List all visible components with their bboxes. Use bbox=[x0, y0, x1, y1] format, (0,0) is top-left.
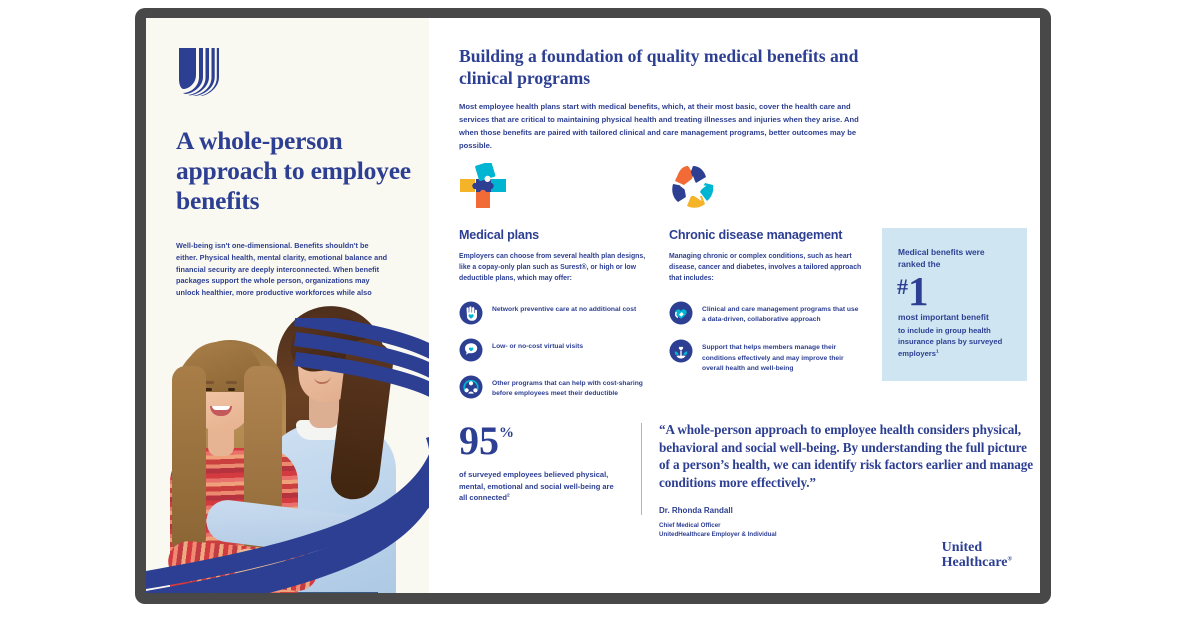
section-medical-plans: Medical plans Employers can choose from … bbox=[459, 163, 649, 413]
mother-and-daughter-photo bbox=[146, 296, 429, 593]
uhc-shield-icon bbox=[177, 46, 219, 96]
callout-bottom-copy: to include in group health insurance pla… bbox=[898, 326, 1002, 359]
stat-caption: of surveyed employees believed physical,… bbox=[459, 469, 624, 504]
quote-author-name: Dr. Rhonda Randall bbox=[659, 506, 1034, 515]
stat-95-percent: 95 % of surveyed employees believed phys… bbox=[459, 421, 624, 504]
quote-text: “A whole-person approach to employee hea… bbox=[659, 421, 1034, 492]
device-frame: A whole-person approach to employee bene… bbox=[135, 8, 1051, 604]
vertical-divider bbox=[641, 423, 642, 515]
list-item-text: Network preventive care at no additional… bbox=[492, 301, 636, 316]
registered-mark: ® bbox=[1008, 557, 1012, 563]
quote-author-org: UnitedHealthcare Employer & Individual bbox=[659, 530, 1034, 540]
photo-figure-part bbox=[212, 406, 230, 410]
list-item: Clinical and care management programs th… bbox=[669, 301, 864, 326]
main-heading: Building a foundation of quality medical… bbox=[459, 46, 889, 90]
quote-author-title: Chief Medical Officer bbox=[659, 521, 1034, 531]
hand-heart-icon bbox=[459, 301, 483, 325]
stat-percent-symbol: % bbox=[499, 421, 514, 441]
callout-hash-symbol: # bbox=[897, 273, 908, 298]
photo-figure-part bbox=[172, 366, 206, 556]
logo-line-2-text: Healthcare bbox=[942, 555, 1008, 570]
list-item-text: Support that helps members manage their … bbox=[702, 339, 864, 375]
list-item-text: Other programs that can help with cost-s… bbox=[492, 375, 649, 400]
photo-figure-part bbox=[205, 388, 212, 391]
callout-rank-value: 1 bbox=[908, 273, 929, 311]
callout-mid-text: most important benefit bbox=[898, 312, 1013, 322]
column-description: Employers can choose from several health… bbox=[459, 251, 649, 285]
logo-line-2: Healthcare® bbox=[942, 555, 1012, 571]
photo-figure-part bbox=[308, 358, 315, 361]
hands-heart-support-icon bbox=[669, 339, 693, 363]
pinwheel-star-icon bbox=[669, 163, 717, 211]
footnote-marker: 1 bbox=[936, 350, 939, 355]
chat-heart-icon bbox=[459, 338, 483, 362]
heart-hand-care-icon bbox=[669, 301, 693, 325]
list-item-text: Low- or no-cost virtual visits bbox=[492, 338, 583, 353]
photo-figure-part bbox=[228, 388, 235, 391]
people-network-icon bbox=[459, 375, 483, 399]
quote-author-role: Chief Medical Officer UnitedHealthcare E… bbox=[659, 521, 1034, 540]
intro-paragraph: Most employee health plans start with me… bbox=[459, 100, 879, 152]
list-item: Low- or no-cost virtual visits bbox=[459, 338, 649, 362]
page-title: A whole-person approach to employee bene… bbox=[176, 126, 414, 216]
logo-line-1: United bbox=[942, 540, 1012, 556]
list-item-text: Clinical and care management programs th… bbox=[702, 301, 864, 326]
callout-bottom-text: to include in group health insurance pla… bbox=[898, 325, 1013, 361]
column-title: Chronic disease management bbox=[669, 228, 864, 242]
list-item: Network preventive care at no additional… bbox=[459, 301, 649, 325]
unitedhealthcare-logo: United Healthcare® bbox=[942, 540, 1012, 571]
callout-number: # 1 bbox=[897, 273, 1013, 311]
right-content-panel: Building a foundation of quality medical… bbox=[429, 18, 1040, 593]
pull-quote: “A whole-person approach to employee hea… bbox=[659, 421, 1034, 540]
photo-figure-part bbox=[330, 356, 337, 359]
brochure-page: A whole-person approach to employee bene… bbox=[146, 18, 1040, 593]
section-chronic-disease-management: Chronic disease management Managing chro… bbox=[669, 163, 864, 388]
ranked-number-one-callout: Medical benefits were ranked the # 1 mos… bbox=[882, 228, 1027, 381]
screenshot-viewport: A whole-person approach to employee bene… bbox=[0, 0, 1200, 627]
list-item: Other programs that can help with cost-s… bbox=[459, 375, 649, 400]
bullet-list: Network preventive care at no additional… bbox=[459, 301, 649, 400]
photo-figure-part bbox=[226, 381, 237, 384]
column-title: Medical plans bbox=[459, 228, 649, 242]
left-panel: A whole-person approach to employee bene… bbox=[146, 18, 429, 593]
list-item: Support that helps members manage their … bbox=[669, 339, 864, 375]
stat-value: 95 bbox=[459, 421, 499, 461]
stat-caption-copy: of surveyed employees believed physical,… bbox=[459, 470, 614, 502]
bullet-list: Clinical and care management programs th… bbox=[669, 301, 864, 376]
column-description: Managing chronic or complex conditions, … bbox=[669, 251, 864, 285]
stat-number: 95 % bbox=[459, 421, 624, 461]
footnote-marker: 2 bbox=[507, 494, 510, 499]
puzzle-cross-icon bbox=[459, 163, 507, 211]
